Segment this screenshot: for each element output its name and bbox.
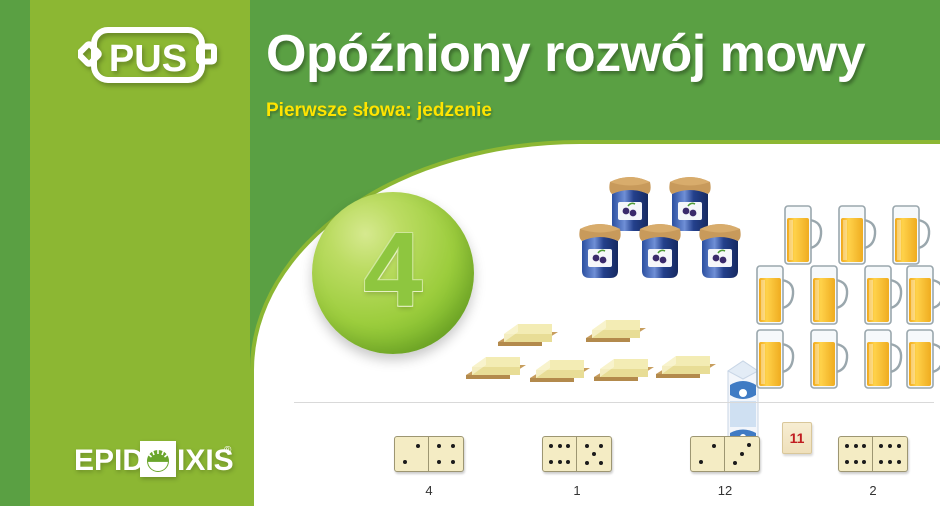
domino-half-left xyxy=(543,437,577,471)
domino-label: 1 xyxy=(542,483,612,498)
pus-worksheet-cover: PUS Opóźniony rozwój mowy Pierwsze słowa… xyxy=(0,0,940,506)
juice-pitcher-icon xyxy=(860,262,906,326)
domino-pip xyxy=(592,452,596,456)
juice-pitcher-icon xyxy=(888,202,934,266)
juice-pitcher-icon xyxy=(834,202,880,266)
domino-item[interactable]: 2 xyxy=(838,436,908,498)
domino-pip xyxy=(451,444,455,448)
juice-pitcher-icon xyxy=(780,202,826,266)
domino-pip xyxy=(888,460,892,464)
domino-row: 41122 xyxy=(254,436,940,506)
domino-pip xyxy=(712,444,716,448)
domino-pip xyxy=(437,460,441,464)
domino-tile[interactable] xyxy=(394,436,464,472)
domino-item[interactable]: 4 xyxy=(394,436,464,498)
section-divider xyxy=(294,402,934,403)
butter-block-icon xyxy=(526,352,594,390)
domino-pip xyxy=(862,444,866,448)
domino-pip xyxy=(566,460,570,464)
domino-half-left xyxy=(839,437,873,471)
domino-pip xyxy=(599,444,603,448)
domino-half-left xyxy=(395,437,429,471)
butter-block-icon xyxy=(590,351,658,389)
domino-half-left xyxy=(691,437,725,471)
domino-pip xyxy=(740,452,744,456)
pus-logo: PUS xyxy=(78,24,218,86)
domino-tile[interactable] xyxy=(542,436,612,472)
task-number: 4 xyxy=(312,192,474,354)
domino-pip xyxy=(549,444,553,448)
domino-pip xyxy=(558,444,562,448)
domino-pip xyxy=(558,460,562,464)
domino-pip xyxy=(566,444,570,448)
epideixis-logo: EPID IXIS ® xyxy=(74,437,234,481)
domino-item[interactable]: 1 xyxy=(542,436,612,498)
domino-tile[interactable] xyxy=(838,436,908,472)
juice-pitcher-icon xyxy=(902,262,940,326)
domino-label: 12 xyxy=(690,483,760,498)
juice-pitcher-icon xyxy=(902,326,940,390)
domino-tile[interactable] xyxy=(690,436,760,472)
jam-jar-icon xyxy=(694,219,746,281)
domino-pip xyxy=(699,460,703,464)
domino-pip xyxy=(879,460,883,464)
juice-pitcher-icon xyxy=(860,326,906,390)
domino-half-right xyxy=(873,437,907,471)
domino-pip xyxy=(451,460,455,464)
juice-pitcher-icon xyxy=(806,326,852,390)
domino-pip xyxy=(437,444,441,448)
pus-logo-text: PUS xyxy=(109,38,187,80)
domino-pip xyxy=(845,444,849,448)
domino-pip xyxy=(747,443,751,447)
domino-item[interactable]: 12 xyxy=(690,436,760,498)
domino-pip xyxy=(403,460,407,464)
page-subtitle: Pierwsze słowa: jedzenie xyxy=(266,100,492,122)
domino-label: 2 xyxy=(838,483,908,498)
jam-jar-icon xyxy=(574,219,626,281)
domino-pip xyxy=(879,444,883,448)
domino-pip xyxy=(897,444,901,448)
butter-block-icon xyxy=(582,312,650,350)
epideixis-text-left: EPID xyxy=(74,444,144,477)
domino-pip xyxy=(854,444,858,448)
page-title: Opóźniony rozwój mowy xyxy=(266,24,865,84)
trademark-symbol: ® xyxy=(224,445,232,456)
butter-block-icon xyxy=(462,349,530,387)
domino-pip xyxy=(416,444,420,448)
task-number-ball: 4 xyxy=(312,192,474,354)
jam-jar-icon xyxy=(634,219,686,281)
domino-half-right xyxy=(725,437,759,471)
domino-half-right xyxy=(429,437,463,471)
domino-pip xyxy=(549,460,553,464)
domino-pip xyxy=(585,444,589,448)
domino-label: 4 xyxy=(394,483,464,498)
domino-pip xyxy=(585,461,589,465)
juice-pitcher-icon xyxy=(752,326,798,390)
juice-pitcher-icon xyxy=(752,262,798,326)
domino-pip xyxy=(599,461,603,465)
domino-pip xyxy=(897,460,901,464)
domino-half-right xyxy=(577,437,611,471)
domino-pip xyxy=(733,461,737,465)
domino-pip xyxy=(888,444,892,448)
butter-block-icon xyxy=(652,348,720,386)
domino-pip xyxy=(854,460,858,464)
juice-pitcher-icon xyxy=(806,262,852,326)
domino-pip xyxy=(862,460,866,464)
domino-pip xyxy=(845,460,849,464)
